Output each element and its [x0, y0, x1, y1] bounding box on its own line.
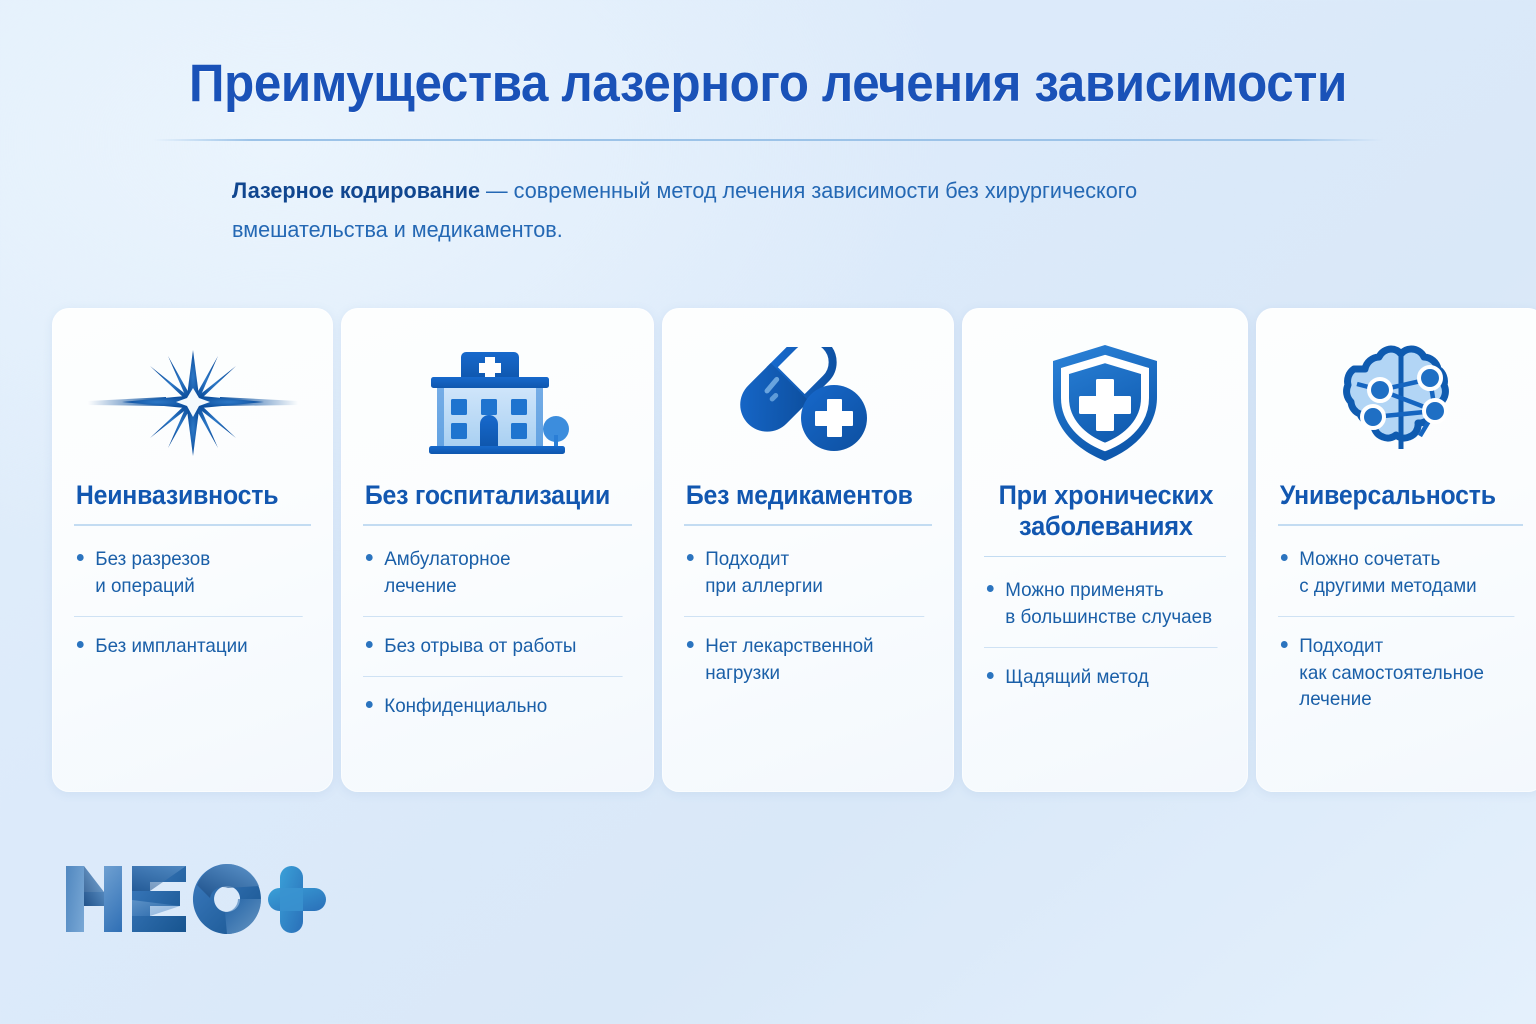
card-title: Без медикаментов — [684, 480, 913, 511]
card-title-divider — [74, 524, 311, 526]
pill-capsule-cross-icon — [684, 342, 933, 464]
card-title-divider — [684, 524, 933, 526]
benefit-list: Можно сочетатьс другими методами Подходи… — [1278, 530, 1523, 730]
benefit-list: Без разрезови операций Без имплантации — [74, 530, 311, 676]
list-item: Подходиткак самостоятельное лечение — [1278, 616, 1514, 730]
card-title: Без госпитализации — [363, 480, 610, 511]
page-title: Преимущества лазерного лечения зависимос… — [54, 56, 1482, 111]
list-item: Можно сочетатьс другими методами — [1278, 530, 1514, 616]
card-title: При хронических заболеваниях — [991, 480, 1218, 543]
benefit-card-chronic-conditions[interactable]: При хронических заболеваниях Можно приме… — [962, 308, 1248, 792]
benefit-list: Подходитпри аллергии Нет лекарственнойна… — [684, 530, 933, 703]
laser-burst-icon — [74, 342, 311, 464]
list-item: Без разрезови операций — [74, 530, 303, 616]
list-item: Конфиденциально — [363, 676, 622, 736]
card-title: Универсальность — [1278, 480, 1503, 511]
benefit-card-no-hospitalization[interactable]: Без госпитализации Амбулаторноелечение Б… — [341, 308, 654, 792]
subtitle: Лазерное кодирование — современный метод… — [232, 171, 1144, 249]
benefit-cards-row: Неинвазивность Без разрезови операций Бе… — [52, 308, 1484, 792]
neo-plus-logo[interactable] — [62, 860, 332, 938]
list-item: Щадящий метод — [984, 647, 1218, 707]
brain-network-icon — [1278, 342, 1523, 464]
card-title-divider — [1278, 524, 1523, 526]
benefit-card-universality[interactable]: Универсальность Можно сочетатьс другими … — [1256, 308, 1536, 792]
subtitle-lead: Лазерное кодирование — [232, 178, 480, 203]
list-item: Можно применятьв большинстве случаев — [984, 561, 1218, 647]
list-item: Нет лекарственнойнагрузки — [684, 616, 924, 703]
benefit-card-no-medication[interactable]: Без медикаментов Подходитпри аллергии Не… — [662, 308, 955, 792]
list-item: Без имплантации — [74, 616, 303, 676]
benefit-list: Амбулаторноелечение Без отрыва от работы… — [363, 530, 632, 736]
benefit-card-noninvasive[interactable]: Неинвазивность Без разрезови операций Бе… — [52, 308, 333, 792]
page-header: Преимущества лазерного лечения зависимос… — [0, 0, 1536, 141]
list-item: Амбулаторноелечение — [363, 530, 622, 616]
hospital-building-icon — [363, 342, 632, 464]
title-divider — [153, 139, 1383, 141]
list-item: Без отрыва от работы — [363, 616, 622, 676]
benefit-list: Можно применятьв большинстве случаев Щад… — [984, 561, 1226, 707]
list-item: Подходитпри аллергии — [684, 530, 924, 616]
card-title-divider — [363, 524, 632, 526]
card-title: Неинвазивность — [74, 480, 292, 511]
card-title-divider — [984, 556, 1226, 558]
shield-cross-icon — [984, 342, 1226, 464]
